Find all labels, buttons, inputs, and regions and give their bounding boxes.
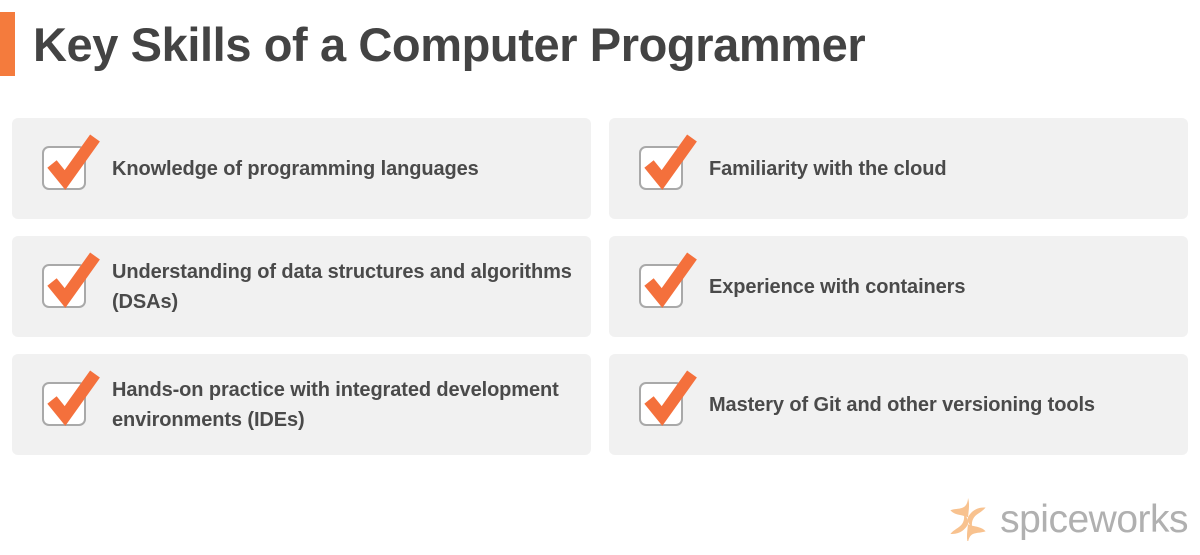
checkbox-checked [639,264,685,310]
checkbox-checked [639,382,685,428]
checkbox-checked [639,146,685,192]
skill-card-programming-languages: Knowledge of programming languages [12,118,591,219]
skill-label: Hands-on practice with integrated develo… [112,375,577,435]
checkbox-square [42,382,86,426]
skill-card-cloud-familiarity: Familiarity with the cloud [609,118,1188,219]
page-title: Key Skills of a Computer Programmer [33,21,865,68]
checkbox-square [639,264,683,308]
checkbox-checked [42,146,88,192]
spiceworks-swirl-logo-icon [946,497,990,541]
orange-accent-bar [0,12,15,76]
skill-label: Mastery of Git and other versioning tool… [709,390,1095,420]
skill-label: Knowledge of programming languages [112,154,479,184]
infographic-page: Key Skills of a Computer Programmer Know… [0,0,1200,555]
checkbox-square [42,264,86,308]
spiceworks-logo: spiceworks [946,497,1188,541]
checkbox-checked [42,382,88,428]
skill-label: Experience with containers [709,272,965,302]
header: Key Skills of a Computer Programmer [0,12,865,76]
skill-label: Familiarity with the cloud [709,154,946,184]
checkbox-square [42,146,86,190]
skill-label: Understanding of data structures and alg… [112,257,577,317]
skill-card-ide-practice: Hands-on practice with integrated develo… [12,354,591,455]
checkbox-checked [42,264,88,310]
skills-grid: Knowledge of programming languages Famil… [12,118,1188,455]
skill-card-containers-experience: Experience with containers [609,236,1188,337]
skill-card-git-versioning: Mastery of Git and other versioning tool… [609,354,1188,455]
checkbox-square [639,146,683,190]
spiceworks-wordmark: spiceworks [1000,500,1188,539]
checkbox-square [639,382,683,426]
skill-card-data-structures-algorithms: Understanding of data structures and alg… [12,236,591,337]
